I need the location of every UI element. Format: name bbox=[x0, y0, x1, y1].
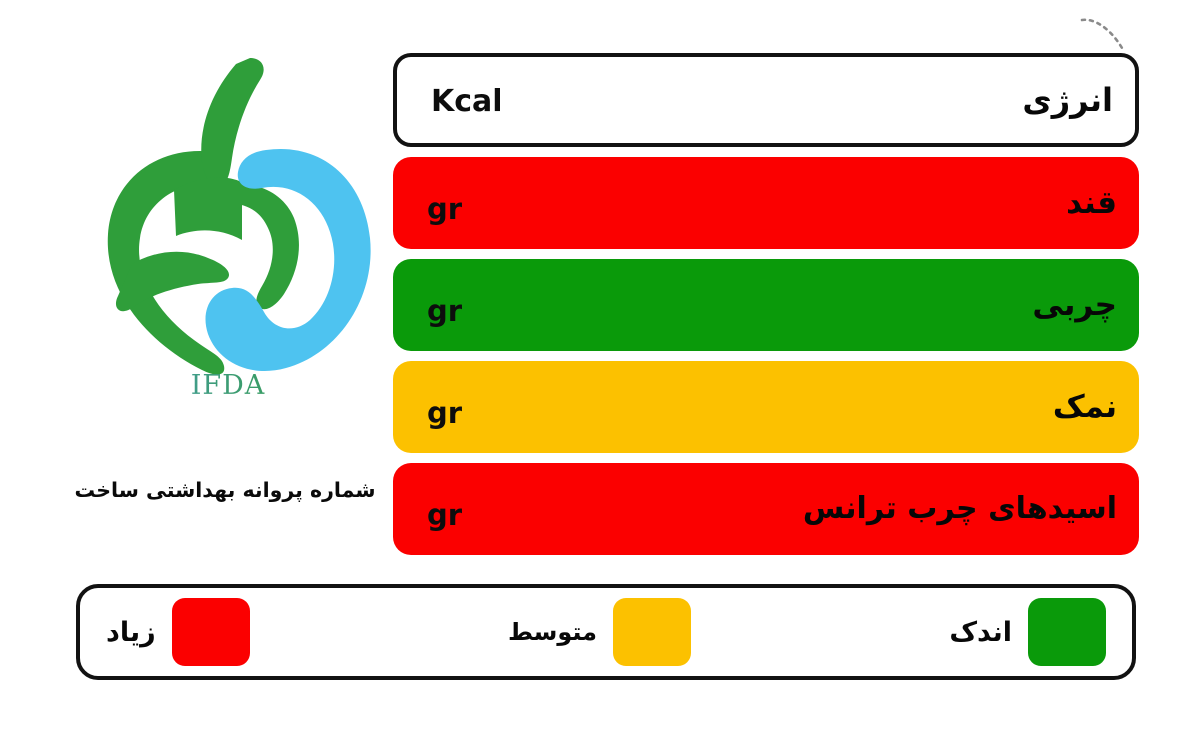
nutrient-unit-salt: gr bbox=[427, 399, 462, 428]
nutrient-row-fat: چربی gr bbox=[393, 259, 1139, 351]
ifda-apple-logo-icon bbox=[98, 58, 378, 378]
legend-label-high: زیاد bbox=[106, 619, 156, 646]
legend-swatch-medium-icon bbox=[613, 598, 691, 666]
nutrient-unit-fat: gr bbox=[427, 297, 462, 326]
nutrient-row-energy: انرژی Kcal bbox=[393, 53, 1139, 147]
nutrition-label-root: IFDA شماره پروانه بهداشتی ساخت انرژی Kca… bbox=[0, 0, 1200, 745]
legend-item-high: زیاد bbox=[106, 598, 250, 666]
legend-swatch-low-icon bbox=[1028, 598, 1106, 666]
legend-swatch-high-icon bbox=[172, 598, 250, 666]
legend-label-low: اندک bbox=[949, 619, 1012, 646]
nutrient-unit-trans-fat: gr bbox=[427, 501, 462, 530]
nutrient-unit-energy: Kcal bbox=[431, 87, 503, 117]
nutrient-label-trans-fat: اسیدهای چرب ترانس bbox=[803, 494, 1117, 524]
legend-box: اندک متوسط زیاد bbox=[76, 584, 1136, 680]
legend-item-low: اندک bbox=[949, 598, 1106, 666]
nutrient-row-sugar: قند gr bbox=[393, 157, 1139, 249]
nutrient-label-energy: انرژی bbox=[1022, 84, 1113, 116]
nutrient-rows-stack: انرژی Kcal قند gr چربی gr نمک gr اسیدهای… bbox=[393, 53, 1139, 565]
ifda-wordmark: IFDA bbox=[78, 370, 378, 401]
nutrient-unit-sugar: gr bbox=[427, 195, 462, 224]
legend-item-medium: متوسط bbox=[508, 598, 691, 666]
health-license-number-caption: شماره پروانه بهداشتی ساخت bbox=[60, 478, 390, 502]
scan-artifact-mark bbox=[1080, 14, 1126, 52]
nutrient-label-sugar: قند bbox=[1066, 188, 1117, 219]
legend-label-medium: متوسط bbox=[508, 620, 597, 644]
nutrient-label-salt: نمک bbox=[1053, 392, 1117, 423]
nutrient-row-trans-fat: اسیدهای چرب ترانس gr bbox=[393, 463, 1139, 555]
nutrient-label-fat: چربی bbox=[1032, 290, 1117, 321]
nutrient-row-salt: نمک gr bbox=[393, 361, 1139, 453]
ifda-logo-block: IFDA bbox=[78, 58, 388, 428]
